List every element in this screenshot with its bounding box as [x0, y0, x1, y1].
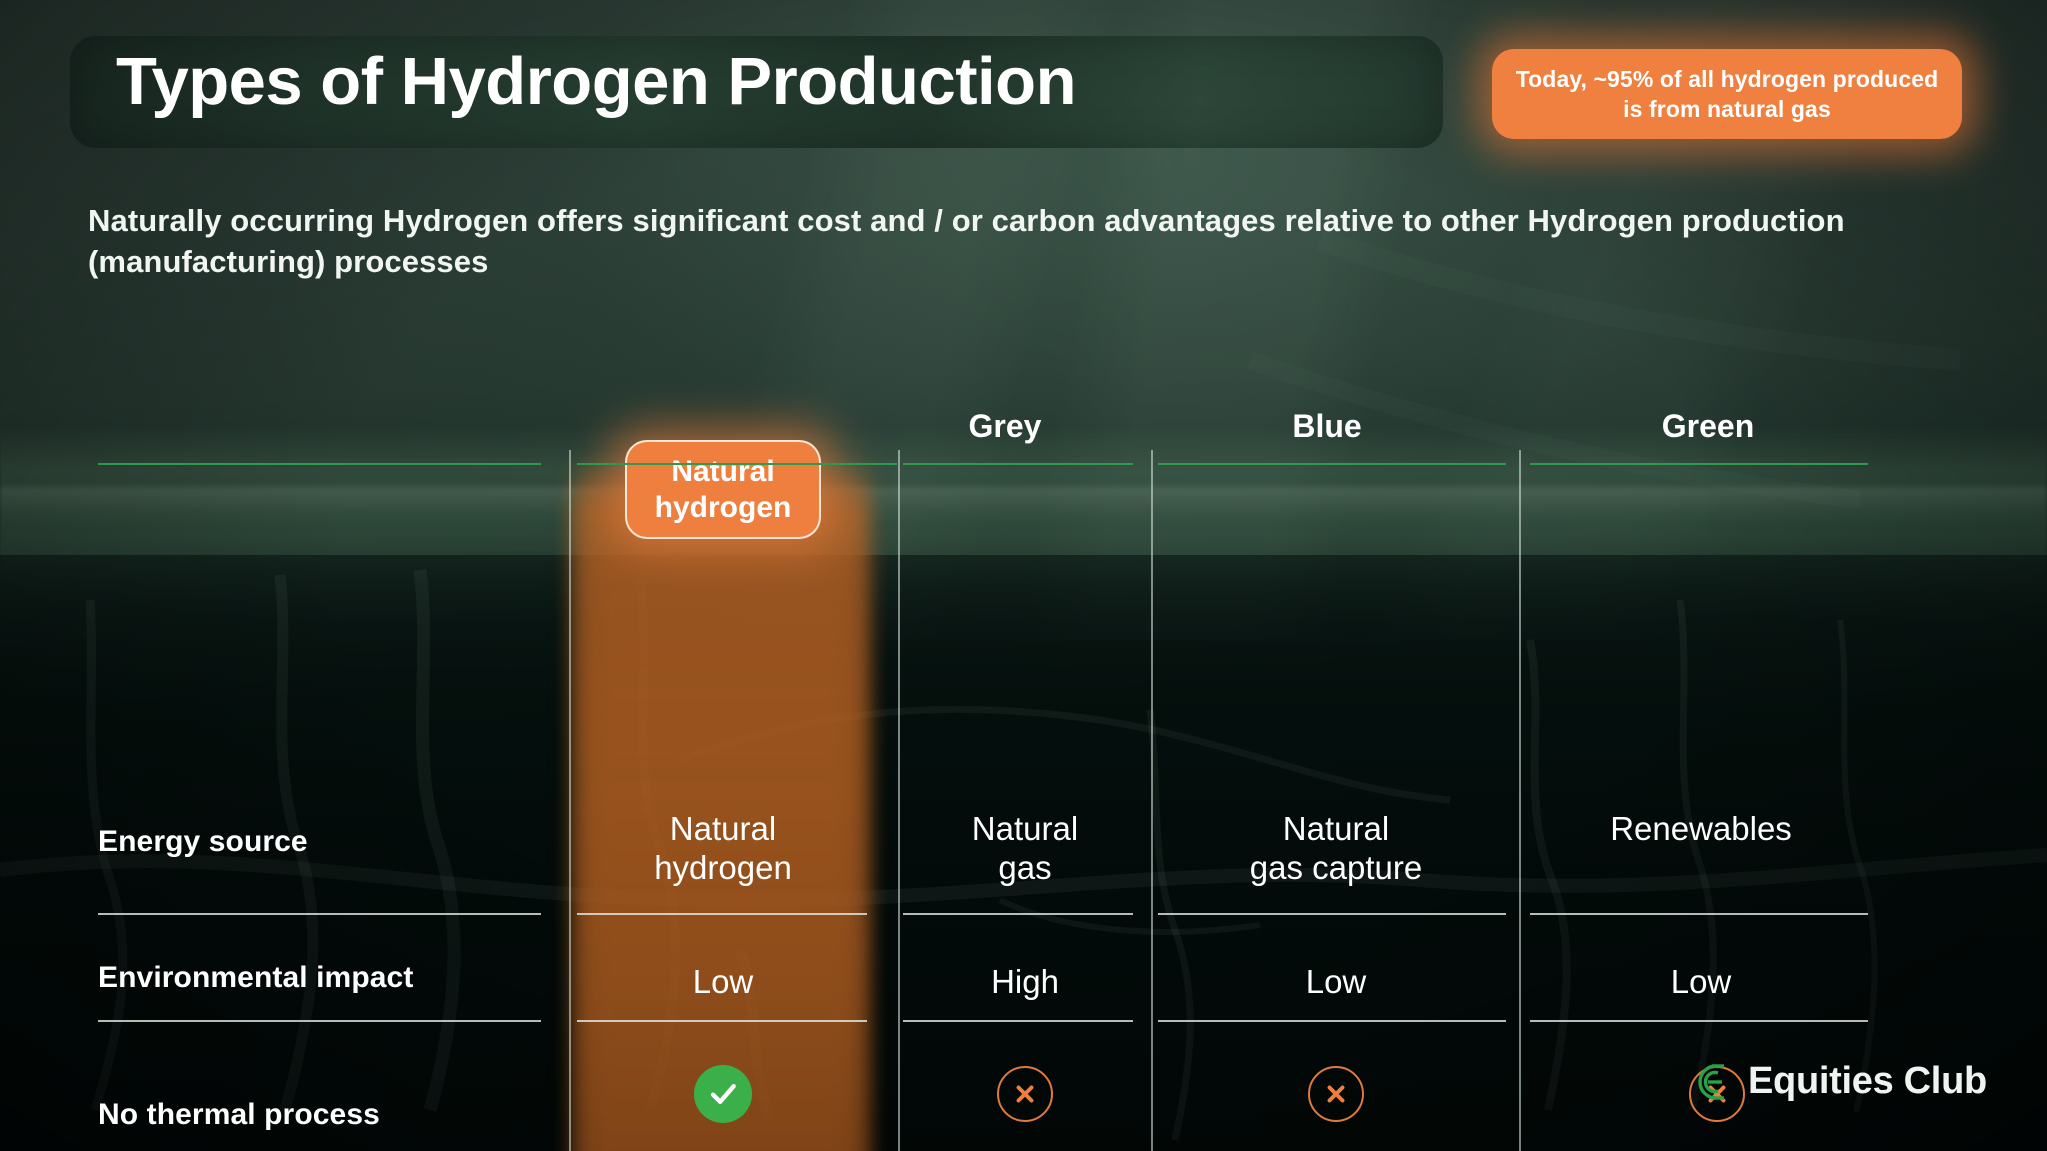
equities-club-monogram-icon — [1688, 1061, 1734, 1103]
row-separator-1-col4 — [1530, 913, 1868, 915]
cell-value: High — [991, 963, 1059, 1000]
column-header-green: Green — [1593, 408, 1823, 445]
row-separator-2-label — [98, 1020, 541, 1022]
row-separator-1-label — [98, 913, 541, 915]
column-header-grey: Grey — [890, 408, 1120, 445]
cell-line-1: Natural — [972, 810, 1078, 847]
row-label-environmental-impact-text: Environmental impact — [98, 961, 413, 994]
column-divider-1 — [569, 450, 571, 1151]
column-header-grey-label: Grey — [969, 408, 1042, 444]
cell-line-1: Natural — [1283, 810, 1389, 847]
row-separator-2-col3 — [1158, 1020, 1506, 1022]
cell-line-1: Renewables — [1610, 810, 1792, 847]
row-separator-1-col3 — [1158, 913, 1506, 915]
cell-energy-source-blue: Naturalgas capture — [1155, 810, 1517, 888]
cell-environmental-impact-natural-hydrogen: Low — [580, 963, 866, 1002]
row-label-energy-source-text: Energy source — [98, 825, 308, 858]
row-label-no-thermal-process-text: No thermal process — [98, 1098, 380, 1131]
cell-energy-source-green: Renewables — [1528, 810, 1874, 849]
cell-line-2: gas — [998, 849, 1051, 886]
cell-line-2: hydrogen — [654, 849, 792, 886]
column-header-natural-hydrogen[interactable]: Naturalhydrogen — [625, 440, 821, 539]
header-rule-col-3 — [1158, 463, 1506, 465]
comparison-table: Naturalhydrogen Grey Blue Green Energy s… — [0, 320, 2047, 1010]
cross-icon — [1308, 1066, 1364, 1122]
row-separator-2-col2 — [903, 1020, 1133, 1022]
cell-line-1: Natural — [670, 810, 776, 847]
pill-line-1: Natural — [671, 455, 774, 488]
cell-value: Low — [1306, 963, 1367, 1000]
cell-value: Low — [693, 963, 754, 1000]
column-header-blue-label: Blue — [1292, 408, 1361, 444]
page-subtitle: Naturally occurring Hydrogen offers sign… — [88, 200, 1888, 282]
header-rule-col-2 — [903, 463, 1133, 465]
infographic-canvas: Types of Hydrogen Production Today, ~95%… — [0, 0, 2047, 1151]
row-separator-1-col1 — [577, 913, 867, 915]
brand-logo: Equities Club — [1688, 1060, 1987, 1103]
header-rule-col-1 — [577, 463, 897, 465]
stat-badge-text: Today, ~95% of all hydrogen produced is … — [1492, 64, 1962, 125]
cell-value: Low — [1671, 963, 1732, 1000]
column-divider-2 — [898, 450, 900, 1151]
column-header-blue: Blue — [1212, 408, 1442, 445]
column-divider-4 — [1519, 450, 1521, 1151]
row-separator-2-col1 — [577, 1020, 867, 1022]
stat-badge: Today, ~95% of all hydrogen produced is … — [1492, 49, 1962, 139]
cross-icon — [997, 1066, 1053, 1122]
check-icon — [694, 1065, 752, 1123]
brand-logo-text: Equities Club — [1748, 1060, 1987, 1103]
cell-line-2: gas capture — [1250, 849, 1422, 886]
header-rule-col-4 — [1530, 463, 1868, 465]
page-title: Types of Hydrogen Production — [116, 48, 1076, 115]
row-label-environmental-impact: Environmental impact — [98, 961, 413, 995]
column-divider-3 — [1151, 450, 1153, 1151]
cell-environmental-impact-grey: High — [902, 963, 1148, 1002]
column-header-green-label: Green — [1662, 408, 1754, 444]
cell-energy-source-natural-hydrogen: Naturalhydrogen — [580, 810, 866, 888]
pill-line-2: hydrogen — [655, 491, 792, 524]
row-separator-2-col4 — [1530, 1020, 1868, 1022]
row-separator-1-col2 — [903, 913, 1133, 915]
cell-energy-source-grey: Naturalgas — [902, 810, 1148, 888]
cell-environmental-impact-green: Low — [1528, 963, 1874, 1002]
header-rule-label-col — [98, 463, 541, 465]
cell-environmental-impact-blue: Low — [1155, 963, 1517, 1002]
row-label-energy-source: Energy source — [98, 825, 308, 859]
stat-badge-pill: Today, ~95% of all hydrogen produced is … — [1492, 49, 1962, 139]
row-label-no-thermal-process: No thermal process — [98, 1098, 380, 1132]
